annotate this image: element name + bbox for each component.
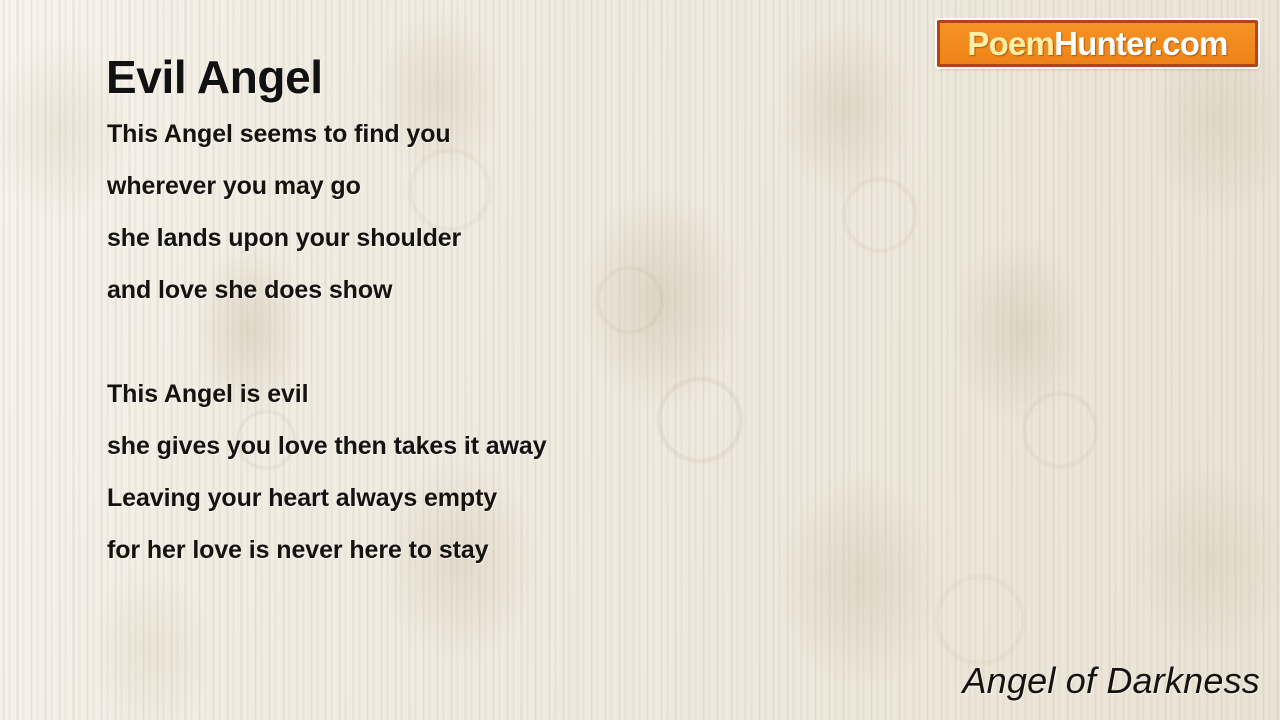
poem-line: Leaving your heart always empty [107, 472, 867, 524]
logo-word-poem: Poem [967, 25, 1054, 62]
author-signature: Angel of Darkness [962, 660, 1260, 702]
poem-line: she gives you love then takes it away [107, 420, 867, 472]
page-title: Evil Angel [106, 53, 323, 101]
poem-line: for her love is never here to stay [107, 524, 867, 576]
poem-line: she lands upon your shoulder [107, 212, 867, 264]
poem-stanza: This Angel is evil she gives you love th… [107, 368, 867, 576]
logo-word-hunter-dot-com: Hunter.com [1054, 25, 1228, 62]
poemhunter-logo-text: PoemHunter.com [967, 27, 1227, 60]
poem-line: wherever you may go [107, 160, 867, 212]
poem-stanza: This Angel seems to find you wherever yo… [107, 108, 867, 316]
poemhunter-logo[interactable]: PoemHunter.com [937, 20, 1258, 67]
poem-card: Evil Angel PoemHunter.com This Angel see… [0, 0, 1280, 720]
poem-line: This Angel seems to find you [107, 108, 867, 160]
poem-body: This Angel seems to find you wherever yo… [107, 108, 867, 576]
poem-line: and love she does show [107, 264, 867, 316]
poem-line: This Angel is evil [107, 368, 867, 420]
